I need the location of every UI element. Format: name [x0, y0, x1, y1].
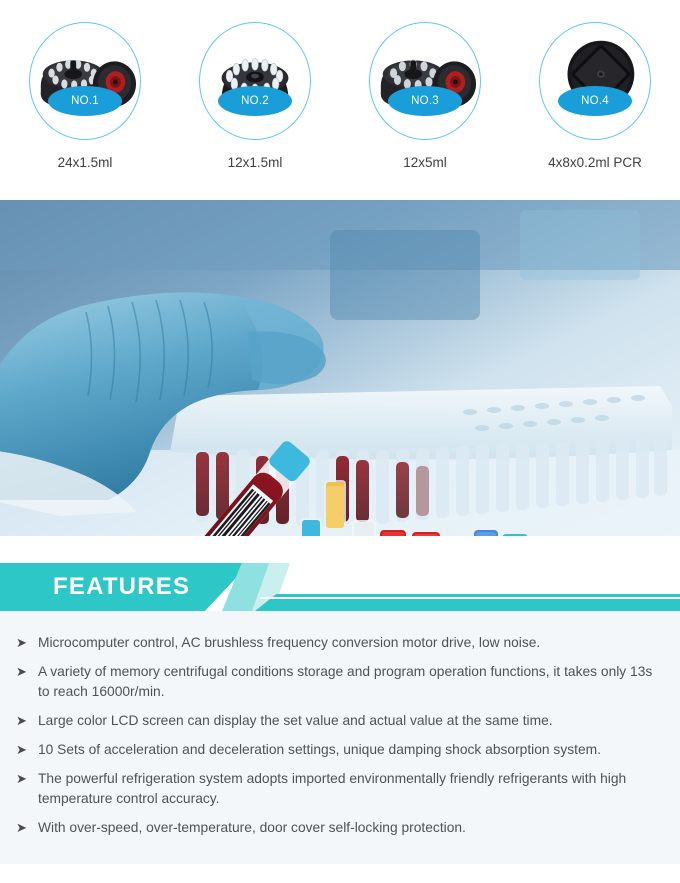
feature-item: ➤ A variety of memory centrifugal condit… — [16, 662, 664, 702]
arrow-bullet-icon: ➤ — [16, 633, 38, 653]
lab-photo-illustration — [0, 200, 680, 536]
rotor-caption: 12x5ml — [340, 155, 510, 170]
rotor-option-1[interactable]: NO.1 24x1.5ml — [0, 0, 170, 200]
lab-photo — [0, 200, 680, 536]
features-header-bar-line — [260, 597, 680, 599]
features-list: ➤ Microcomputer control, AC brushless fr… — [0, 611, 680, 864]
feature-text: The powerful refrigeration system adopts… — [38, 769, 664, 809]
rotor-badge: NO.4 — [558, 86, 632, 116]
rotor-with-lid-icon — [370, 23, 480, 139]
arrow-bullet-icon: ➤ — [16, 711, 38, 731]
arrow-bullet-icon: ➤ — [16, 818, 38, 838]
rotor-badge: NO.3 — [388, 86, 462, 116]
rotor-circle-outline — [539, 22, 651, 140]
rotor-option-2[interactable]: NO.2 12x1.5ml — [170, 0, 340, 200]
features-title: FEATURES — [53, 563, 190, 611]
features-spacer — [0, 536, 680, 563]
features-header: FEATURES — [0, 563, 680, 611]
feature-text: A variety of memory centrifugal conditio… — [38, 662, 664, 702]
rotor-caption: 12x1.5ml — [170, 155, 340, 170]
feature-text: With over-speed, over-temperature, door … — [38, 818, 664, 838]
rotor-badge: NO.2 — [218, 86, 292, 116]
feature-text: 10 Sets of acceleration and deceleration… — [38, 740, 664, 760]
rotor-caption: 4x8x0.2ml PCR — [510, 155, 680, 170]
rotor-option-3[interactable]: NO.3 12x5ml — [340, 0, 510, 200]
feature-item: ➤ With over-speed, over-temperature, doo… — [16, 818, 664, 838]
feature-text: Microcomputer control, AC brushless freq… — [38, 633, 664, 653]
feature-text: Large color LCD screen can display the s… — [38, 711, 664, 731]
rotor-with-lid-icon — [30, 23, 140, 139]
pcr-plate-rotor-icon — [540, 23, 650, 139]
rotor-badge: NO.1 — [48, 86, 122, 116]
arrow-bullet-icon: ➤ — [16, 769, 38, 789]
feature-item: ➤ The powerful refrigeration system adop… — [16, 769, 664, 809]
rotor-caption: 24x1.5ml — [0, 155, 170, 170]
rotor-circle-outline — [369, 22, 481, 140]
arrow-bullet-icon: ➤ — [16, 740, 38, 760]
rotor-option-4[interactable]: NO.4 4x8x0.2ml PCR — [510, 0, 680, 200]
page-footer-spacer — [0, 864, 680, 883]
rotor-circle-outline — [29, 22, 141, 140]
feature-item: ➤ 10 Sets of acceleration and decelerati… — [16, 740, 664, 760]
feature-item: ➤ Microcomputer control, AC brushless fr… — [16, 633, 664, 653]
rotor-circle-outline — [199, 22, 311, 140]
feature-item: ➤ Large color LCD screen can display the… — [16, 711, 664, 731]
rotor-options-strip: NO.1 24x1.5ml NO.2 12x1.5ml — [0, 0, 680, 200]
conical-rotor-icon — [200, 23, 310, 139]
arrow-bullet-icon: ➤ — [16, 662, 38, 682]
